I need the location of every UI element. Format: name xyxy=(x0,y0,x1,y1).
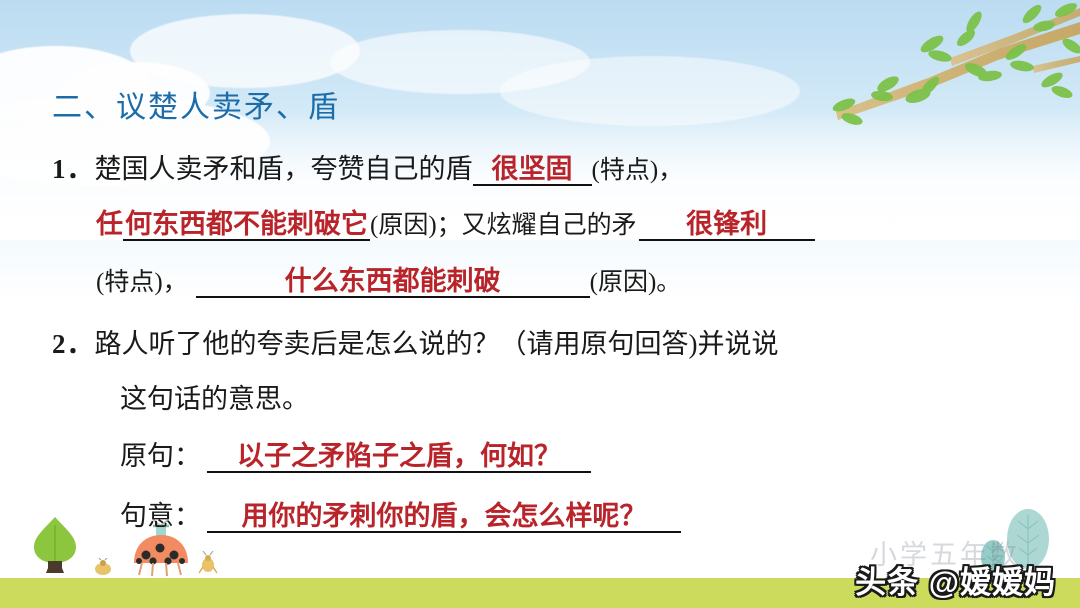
question-2-text-1: 路人听了他的夸卖后是怎么说的？（请用原句回答)并说说 xyxy=(95,329,779,359)
answer-text-2-head: 任 xyxy=(96,209,123,239)
question-1-line-1: 1．楚国人卖矛和盾，夸赞自己的盾很坚固(特点)， xyxy=(52,156,683,186)
slide-canvas: 二、议楚人卖矛、盾 1．楚国人卖矛和盾，夸赞自己的盾很坚固(特点)， 任何东西都… xyxy=(0,0,1080,608)
question-2-answer-row-1: 原句：以子之矛陷子之盾，何如？ xyxy=(120,443,591,473)
question-2-number: 2． xyxy=(52,329,95,359)
original-sentence-label: 原句： xyxy=(120,443,201,470)
meaning-blank[interactable]: 用你的矛刺你的盾，会怎么样呢？ xyxy=(207,503,681,533)
question-1-text-d: (特点)， xyxy=(96,269,188,296)
watermark-main: 头条 @嫒嫒妈 xyxy=(855,557,1056,602)
answer-blank-2[interactable]: 何东西都不能刺破它 xyxy=(123,211,370,241)
question-1-number: 1． xyxy=(52,154,95,184)
question-1-text-a: 楚国人卖矛和盾，夸赞自己的盾 xyxy=(95,154,473,184)
meaning-label: 句意： xyxy=(120,503,201,530)
question-2-answer-row-2: 句意：用你的矛刺你的盾，会怎么样呢？ xyxy=(120,503,681,533)
question-1-text-e: (原因)。 xyxy=(590,269,682,296)
answer-blank-4[interactable]: 什么东西都能刺破 xyxy=(196,268,590,298)
question-1-text-b: (特点)， xyxy=(592,157,684,184)
answer-blank-1[interactable]: 很坚固 xyxy=(473,156,592,186)
question-2-text-2: 这句话的意思。 xyxy=(120,384,309,414)
question-1-line-2: 任何东西都不能刺破它(原因)；又炫耀自己的矛很锋利 xyxy=(96,211,815,241)
original-sentence-blank[interactable]: 以子之矛陷子之盾，何如？ xyxy=(207,443,591,473)
question-2-line-1: 2．路人听了他的夸卖后是怎么说的？（请用原句回答)并说说 xyxy=(52,331,779,358)
page-title: 二、议楚人卖矛、盾 xyxy=(52,82,340,126)
answer-blank-3[interactable]: 很锋利 xyxy=(639,211,815,241)
question-2-line-2: 这句话的意思。 xyxy=(120,386,309,413)
slide-content: 二、议楚人卖矛、盾 1．楚国人卖矛和盾，夸赞自己的盾很坚固(特点)， 任何东西都… xyxy=(0,0,1080,608)
question-1-line-3: (特点)，什么东西都能刺破(原因)。 xyxy=(96,268,681,298)
question-1-text-c: (原因)；又炫耀自己的矛 xyxy=(370,212,637,239)
